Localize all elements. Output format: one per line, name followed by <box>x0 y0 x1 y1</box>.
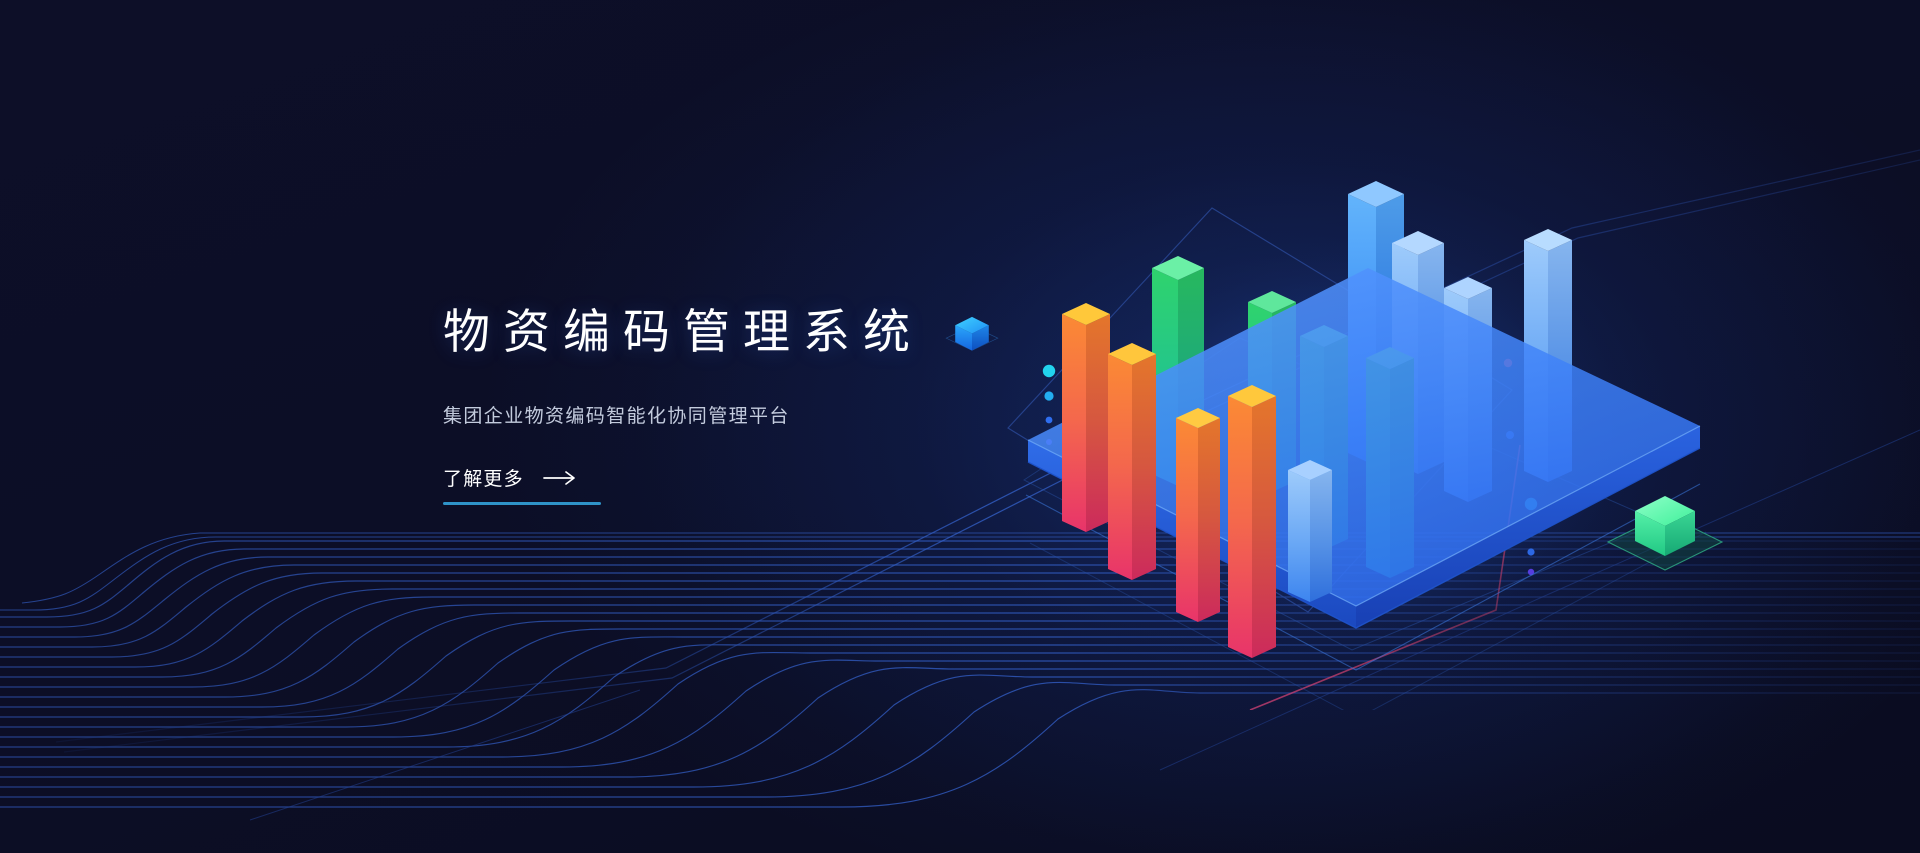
bar-b7 <box>1228 385 1276 658</box>
hero-banner: 物资编码管理系统 <box>0 0 1920 853</box>
blue-cube-icon <box>941 290 1003 376</box>
learn-more-label: 了解更多 <box>443 464 524 491</box>
bar-b2 <box>1108 343 1156 580</box>
hero-content: 物资编码管理系统 <box>443 288 1003 505</box>
page-title: 物资编码管理系统 <box>443 303 923 362</box>
title-row: 物资编码管理系统 <box>443 288 1003 376</box>
arrow-right-icon <box>543 470 577 486</box>
bar-b4 <box>1176 408 1220 622</box>
green-cube-decoration <box>1600 478 1730 588</box>
page-subtitle: 集团企业物资编码智能化协同管理平台 <box>443 401 1003 428</box>
bar-b1 <box>1062 303 1110 532</box>
bar-b12 <box>1288 460 1332 602</box>
learn-more-button[interactable]: 了解更多 <box>443 464 601 505</box>
learn-more-underline <box>443 502 601 505</box>
isometric-bar-chart-illustration <box>1000 150 1720 710</box>
learn-more-row: 了解更多 <box>443 464 601 502</box>
